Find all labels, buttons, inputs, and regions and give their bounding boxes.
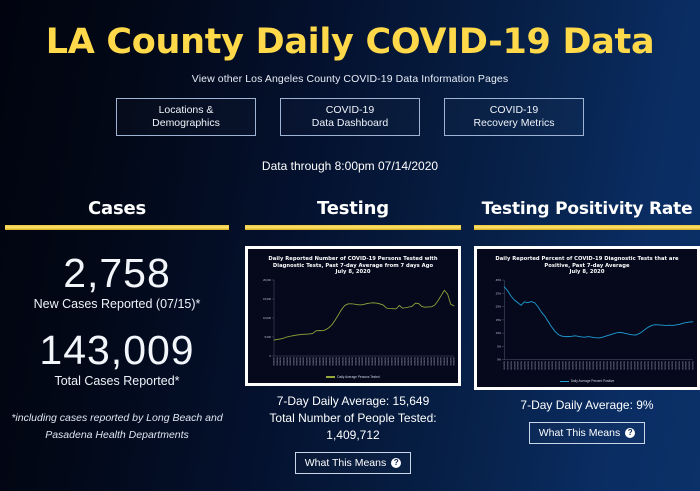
svg-text:00/00/00: 00/00/00 [538, 360, 540, 369]
svg-text:00/00/00: 00/00/00 [631, 360, 633, 369]
svg-text:00/00/00: 00/00/00 [566, 360, 568, 369]
svg-text:00/00/00: 00/00/00 [356, 356, 358, 365]
svg-text:00/00/00: 00/00/00 [414, 356, 416, 365]
svg-text:00/00/00: 00/00/00 [346, 356, 348, 365]
positivity-legend-label: Daily Average Percent Positive [571, 379, 615, 383]
svg-text:00/00/00: 00/00/00 [444, 356, 446, 365]
svg-text:00/00/00: 00/00/00 [316, 356, 318, 365]
svg-text:00/00/00: 00/00/00 [352, 356, 354, 365]
total-cases-label: Total Cases Reported* [5, 374, 229, 388]
svg-text:00/00/00: 00/00/00 [614, 360, 616, 369]
svg-text:00/00/00: 00/00/00 [665, 360, 667, 369]
nav-button-line1: COVID-19 [490, 104, 538, 117]
nav-button-row: Locations & Demographics COVID-19 Data D… [0, 98, 700, 136]
svg-text:00/00/00: 00/00/00 [382, 356, 384, 365]
svg-text:00/00/00: 00/00/00 [277, 356, 279, 365]
new-cases-block: 2,758 New Cases Reported (07/15)* [5, 250, 229, 311]
svg-text:00/00/00: 00/00/00 [507, 360, 509, 369]
positivity-chart-title: Daily Reported Percent of COVID-19 Diagn… [477, 249, 697, 278]
positivity-wtm-wrap: What This Means ? [474, 422, 700, 444]
svg-text:00/00/00: 00/00/00 [418, 356, 420, 365]
svg-text:5,000: 5,000 [265, 335, 272, 339]
new-cases-value: 2,758 [5, 250, 229, 296]
svg-text:00/00/00: 00/00/00 [395, 356, 397, 365]
svg-text:00/00/00: 00/00/00 [559, 360, 561, 369]
svg-text:10,000: 10,000 [263, 316, 271, 320]
svg-text:00/00/00: 00/00/00 [504, 360, 506, 369]
svg-text:00/00/00: 00/00/00 [645, 360, 647, 369]
cases-footnote: *including cases reported by Long Beach … [5, 410, 229, 444]
total-cases-value: 143,009 [5, 327, 229, 373]
svg-text:00/00/00: 00/00/00 [689, 360, 691, 369]
svg-text:00/00/00: 00/00/00 [388, 356, 390, 365]
svg-text:00/00/00: 00/00/00 [627, 360, 629, 369]
svg-text:20,000: 20,000 [263, 278, 271, 282]
testing-legend-label: Daily Average Persons Tested [337, 375, 379, 379]
svg-text:00/00/00: 00/00/00 [528, 360, 530, 369]
new-cases-label: New Cases Reported (07/15)* [5, 297, 229, 311]
testing-what-this-means-label: What This Means [305, 457, 387, 469]
svg-text:5%: 5% [497, 344, 502, 348]
svg-text:00/00/00: 00/00/00 [287, 356, 289, 365]
svg-text:00/00/00: 00/00/00 [521, 360, 523, 369]
svg-text:00/00/00: 00/00/00 [531, 360, 533, 369]
svg-text:00/00/00: 00/00/00 [437, 356, 439, 365]
svg-text:00/00/00: 00/00/00 [339, 356, 341, 365]
svg-text:00/00/00: 00/00/00 [336, 356, 338, 365]
svg-text:00/00/00: 00/00/00 [424, 356, 426, 365]
svg-text:00/00/00: 00/00/00 [428, 356, 430, 365]
testing-divider [245, 225, 461, 230]
svg-text:00/00/00: 00/00/00 [586, 360, 588, 369]
svg-text:15%: 15% [496, 318, 502, 322]
svg-text:00/00/00: 00/00/00 [607, 360, 609, 369]
svg-text:00/00/00: 00/00/00 [624, 360, 626, 369]
svg-text:00/00/00: 00/00/00 [569, 360, 571, 369]
svg-text:00/00/00: 00/00/00 [552, 360, 554, 369]
nav-button-recovery-metrics[interactable]: COVID-19 Recovery Metrics [444, 98, 584, 136]
testing-chart-subtitle: July 8, 2020 [258, 269, 448, 276]
data-through-timestamp: Data through 8:00pm 07/14/2020 [0, 159, 700, 173]
svg-text:00/00/00: 00/00/00 [583, 360, 585, 369]
svg-text:00/00/00: 00/00/00 [593, 360, 595, 369]
svg-text:00/00/00: 00/00/00 [597, 360, 599, 369]
svg-text:00/00/00: 00/00/00 [651, 360, 653, 369]
legend-swatch-icon [560, 381, 569, 383]
svg-text:00/00/00: 00/00/00 [280, 356, 282, 365]
positivity-chart-card[interactable]: Daily Reported Percent of COVID-19 Diagn… [474, 246, 700, 390]
svg-text:00/00/00: 00/00/00 [610, 360, 612, 369]
svg-text:00/00/00: 00/00/00 [573, 360, 575, 369]
svg-text:00/00/00: 00/00/00 [375, 356, 377, 365]
svg-text:00/00/00: 00/00/00 [590, 360, 592, 369]
positivity-what-this-means-button[interactable]: What This Means ? [529, 422, 646, 444]
svg-text:00/00/00: 00/00/00 [310, 356, 312, 365]
svg-text:00/00/00: 00/00/00 [333, 356, 335, 365]
svg-text:00/00/00: 00/00/00 [320, 356, 322, 365]
testing-column: Testing Daily Reported Number of COVID-1… [245, 198, 461, 474]
svg-text:00/00/00: 00/00/00 [284, 356, 286, 365]
svg-text:25%: 25% [496, 291, 502, 295]
svg-text:00/00/00: 00/00/00 [326, 356, 328, 365]
svg-text:00/00/00: 00/00/00 [349, 356, 351, 365]
nav-button-data-dashboard[interactable]: COVID-19 Data Dashboard [280, 98, 420, 136]
svg-text:00/00/00: 00/00/00 [300, 356, 302, 365]
svg-text:00/00/00: 00/00/00 [648, 360, 650, 369]
svg-text:00/00/00: 00/00/00 [306, 356, 308, 365]
positivity-column: Testing Positivity Rate Daily Reported P… [474, 198, 700, 444]
nav-button-line2: Data Dashboard [312, 117, 388, 130]
positivity-divider [474, 225, 700, 230]
svg-text:00/00/00: 00/00/00 [525, 360, 527, 369]
svg-text:00/00/00: 00/00/00 [431, 356, 433, 365]
svg-text:00/00/00: 00/00/00 [693, 360, 695, 369]
svg-text:00/00/00: 00/00/00 [359, 356, 361, 365]
positivity-chart-title-text: Daily Reported Percent of COVID-19 Diagn… [487, 256, 687, 269]
svg-text:00/00/00: 00/00/00 [672, 360, 674, 369]
svg-text:00/00/00: 00/00/00 [603, 360, 605, 369]
svg-text:00/00/00: 00/00/00 [362, 356, 364, 365]
testing-total-stat: Total Number of People Tested: 1,409,712 [245, 410, 461, 444]
testing-plot: 05,00010,00015,00020,00000/00/0000/00/00… [248, 278, 458, 374]
svg-text:00/00/00: 00/00/00 [385, 356, 387, 365]
cases-column: Cases 2,758 New Cases Reported (07/15)* … [5, 198, 229, 444]
positivity-average-stat: 7-Day Daily Average: 9% [474, 397, 700, 414]
svg-text:10%: 10% [496, 331, 502, 335]
dashboard-page: LA County Daily COVID-19 Data View other… [0, 0, 700, 491]
svg-text:00/00/00: 00/00/00 [579, 360, 581, 369]
svg-text:00/00/00: 00/00/00 [293, 356, 295, 365]
svg-text:00/00/00: 00/00/00 [342, 356, 344, 365]
testing-average-stat: 7-Day Daily Average: 15,649 [245, 393, 461, 410]
svg-text:00/00/00: 00/00/00 [329, 356, 331, 365]
testing-plot-svg: 05,00010,00015,00020,00000/00/0000/00/00… [248, 278, 458, 374]
question-mark-icon: ? [391, 458, 401, 468]
svg-text:00/00/00: 00/00/00 [535, 360, 537, 369]
svg-text:00/00/00: 00/00/00 [454, 356, 456, 365]
svg-text:00/00/00: 00/00/00 [450, 356, 452, 365]
svg-text:00/00/00: 00/00/00 [372, 356, 374, 365]
svg-text:00/00/00: 00/00/00 [658, 360, 660, 369]
svg-text:20%: 20% [496, 304, 502, 308]
testing-wtm-wrap: What This Means ? [245, 452, 461, 474]
svg-text:00/00/00: 00/00/00 [679, 360, 681, 369]
page-subtitle: View other Los Angeles County COVID-19 D… [0, 73, 700, 85]
svg-text:00/00/00: 00/00/00 [411, 356, 413, 365]
svg-text:00/00/00: 00/00/00 [675, 360, 677, 369]
testing-chart-title: Daily Reported Number of COVID-19 Person… [248, 249, 458, 278]
svg-text:00/00/00: 00/00/00 [562, 360, 564, 369]
nav-button-line1: Locations & [159, 104, 214, 117]
svg-text:00/00/00: 00/00/00 [392, 356, 394, 365]
nav-button-line1: COVID-19 [326, 104, 374, 117]
nav-button-line2: Demographics [152, 117, 220, 130]
svg-text:00/00/00: 00/00/00 [303, 356, 305, 365]
svg-text:00/00/00: 00/00/00 [600, 360, 602, 369]
svg-text:00/00/00: 00/00/00 [511, 360, 513, 369]
svg-text:00/00/00: 00/00/00 [617, 360, 619, 369]
legend-swatch-icon [326, 376, 335, 378]
positivity-chart-subtitle: July 8, 2020 [487, 269, 687, 276]
svg-text:00/00/00: 00/00/00 [369, 356, 371, 365]
positivity-plot-svg: 0%5%10%15%20%25%30%00/00/0000/00/0000/00… [477, 278, 697, 379]
svg-text:00/00/00: 00/00/00 [641, 360, 643, 369]
svg-text:0%: 0% [497, 358, 502, 362]
svg-text:00/00/00: 00/00/00 [378, 356, 380, 365]
svg-text:00/00/00: 00/00/00 [408, 356, 410, 365]
svg-text:00/00/00: 00/00/00 [447, 356, 449, 365]
svg-text:00/00/00: 00/00/00 [576, 360, 578, 369]
svg-text:00/00/00: 00/00/00 [441, 356, 443, 365]
svg-text:00/00/00: 00/00/00 [365, 356, 367, 365]
svg-text:15,000: 15,000 [263, 297, 271, 301]
svg-text:00/00/00: 00/00/00 [434, 356, 436, 365]
testing-what-this-means-button[interactable]: What This Means ? [295, 452, 412, 474]
svg-text:00/00/00: 00/00/00 [634, 360, 636, 369]
svg-text:00/00/00: 00/00/00 [549, 360, 551, 369]
svg-text:00/00/00: 00/00/00 [313, 356, 315, 365]
svg-text:0: 0 [270, 354, 272, 358]
svg-text:00/00/00: 00/00/00 [638, 360, 640, 369]
svg-text:00/00/00: 00/00/00 [545, 360, 547, 369]
testing-chart-title-text: Daily Reported Number of COVID-19 Person… [258, 256, 448, 269]
svg-text:00/00/00: 00/00/00 [514, 360, 516, 369]
svg-text:00/00/00: 00/00/00 [686, 360, 688, 369]
positivity-chart-legend: Daily Average Percent Positive [477, 378, 697, 387]
svg-text:00/00/00: 00/00/00 [662, 360, 664, 369]
svg-text:00/00/00: 00/00/00 [405, 356, 407, 365]
svg-text:00/00/00: 00/00/00 [401, 356, 403, 365]
svg-text:00/00/00: 00/00/00 [290, 356, 292, 365]
nav-button-locations-demographics[interactable]: Locations & Demographics [116, 98, 256, 136]
cases-heading: Cases [5, 198, 229, 222]
svg-text:00/00/00: 00/00/00 [682, 360, 684, 369]
cases-divider [5, 225, 229, 230]
svg-text:00/00/00: 00/00/00 [655, 360, 657, 369]
svg-text:00/00/00: 00/00/00 [297, 356, 299, 365]
svg-text:00/00/00: 00/00/00 [323, 356, 325, 365]
svg-text:00/00/00: 00/00/00 [542, 360, 544, 369]
svg-text:00/00/00: 00/00/00 [621, 360, 623, 369]
svg-text:00/00/00: 00/00/00 [555, 360, 557, 369]
testing-chart-card[interactable]: Daily Reported Number of COVID-19 Person… [245, 246, 461, 386]
svg-text:30%: 30% [496, 278, 502, 282]
svg-text:00/00/00: 00/00/00 [274, 356, 276, 365]
positivity-plot: 0%5%10%15%20%25%30%00/00/0000/00/0000/00… [477, 278, 697, 379]
svg-text:00/00/00: 00/00/00 [398, 356, 400, 365]
positivity-heading: Testing Positivity Rate [474, 198, 700, 222]
page-title: LA County Daily COVID-19 Data [0, 22, 700, 62]
total-cases-block: 143,009 Total Cases Reported* [5, 327, 229, 388]
testing-chart-legend: Daily Average Persons Tested [248, 374, 458, 383]
svg-text:00/00/00: 00/00/00 [669, 360, 671, 369]
svg-text:00/00/00: 00/00/00 [518, 360, 520, 369]
question-mark-icon: ? [625, 428, 635, 438]
svg-text:00/00/00: 00/00/00 [421, 356, 423, 365]
nav-button-line2: Recovery Metrics [473, 117, 554, 130]
positivity-what-this-means-label: What This Means [539, 427, 621, 439]
testing-heading: Testing [245, 198, 461, 222]
